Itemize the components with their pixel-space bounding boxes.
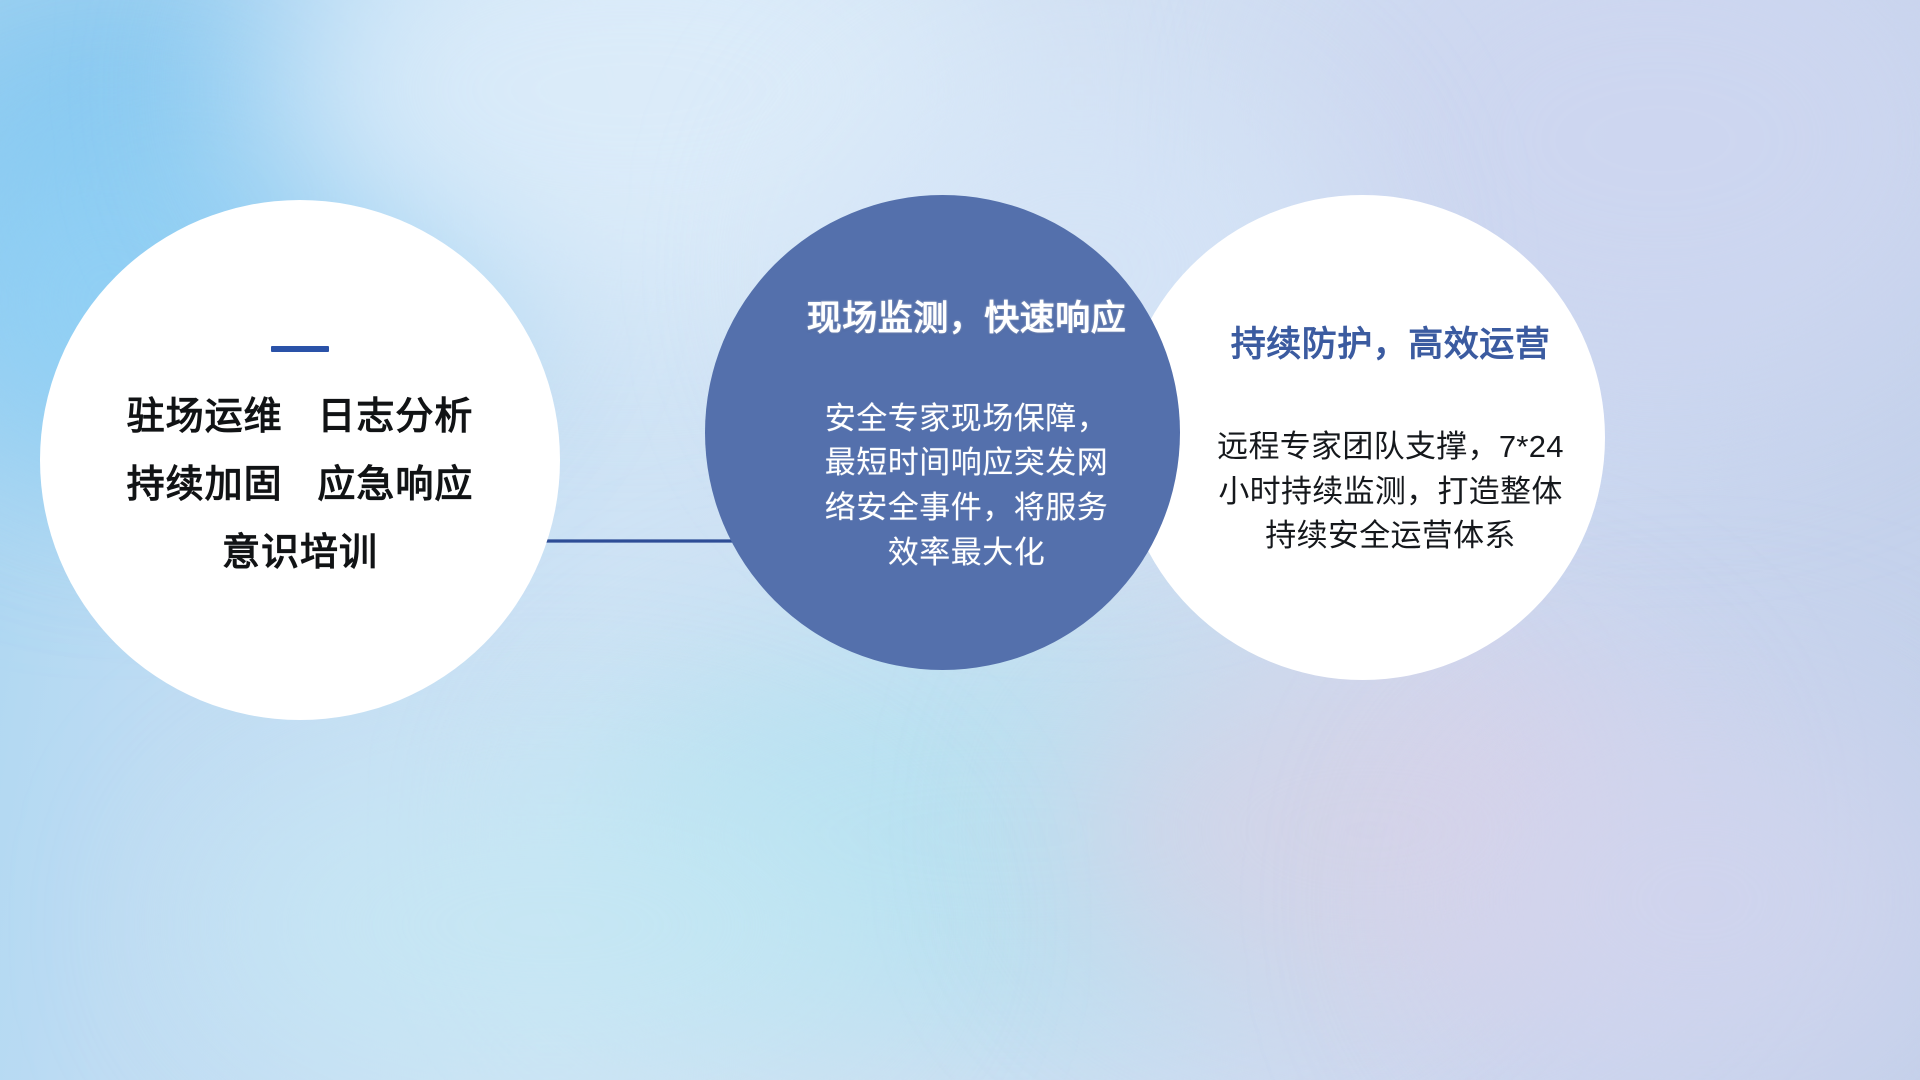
feature-circle-onsite-content: 现场监测，快速响应 安全专家现场保障， 最短时间响应突发网 络安全事件，将服务 … — [807, 290, 1127, 576]
feature-body-onsite-line-2: 最短时间响应突发网 — [825, 441, 1109, 486]
feature-body-continuous-line-1: 远程专家团队支撑，7*24 — [1217, 425, 1564, 470]
feature-circle-onsite[interactable]: 现场监测，快速响应 安全专家现场保障， 最短时间响应突发网 络安全事件，将服务 … — [705, 195, 1180, 670]
slide-canvas: 驻场运维 日志分析 持续加固 应急响应 意识培训 现场监测，快速响应 安全专家现… — [0, 0, 1920, 1080]
feature-circle-continuous-content: 持续防护，高效运营 远程专家团队支撑，7*24 小时持续监测，打造整体 持续安全… — [1217, 316, 1564, 560]
feature-body-continuous-line-3: 持续安全运营体系 — [1217, 514, 1564, 559]
feature-title-continuous: 持续防护，高效运营 — [1231, 316, 1551, 367]
background-glow-bottom-left — [200, 760, 900, 1080]
capability-circle-left[interactable]: 驻场运维 日志分析 持续加固 应急响应 意识培训 — [40, 200, 560, 720]
capability-line-1: 驻场运维 日志分析 — [127, 398, 474, 438]
feature-body-continuous-line-2: 小时持续监测，打造整体 — [1217, 470, 1564, 515]
divider-dash — [271, 346, 329, 352]
feature-body-onsite-line-1: 安全专家现场保障， — [825, 397, 1109, 442]
feature-body-continuous: 远程专家团队支撑，7*24 小时持续监测，打造整体 持续安全运营体系 — [1217, 425, 1564, 560]
feature-circle-continuous[interactable]: 持续防护，高效运营 远程专家团队支撑，7*24 小时持续监测，打造整体 持续安全… — [1120, 195, 1605, 680]
feature-body-onsite: 安全专家现场保障， 最短时间响应突发网 络安全事件，将服务 效率最大化 — [825, 397, 1109, 576]
capability-list: 驻场运维 日志分析 持续加固 应急响应 意识培训 — [127, 398, 474, 574]
feature-body-onsite-line-3: 络安全事件，将服务 — [825, 486, 1109, 531]
capability-line-3: 意识培训 — [127, 534, 474, 574]
feature-body-onsite-line-4: 效率最大化 — [825, 531, 1109, 576]
capability-line-2: 持续加固 应急响应 — [127, 466, 474, 506]
feature-title-onsite: 现场监测，快速响应 — [807, 290, 1127, 341]
